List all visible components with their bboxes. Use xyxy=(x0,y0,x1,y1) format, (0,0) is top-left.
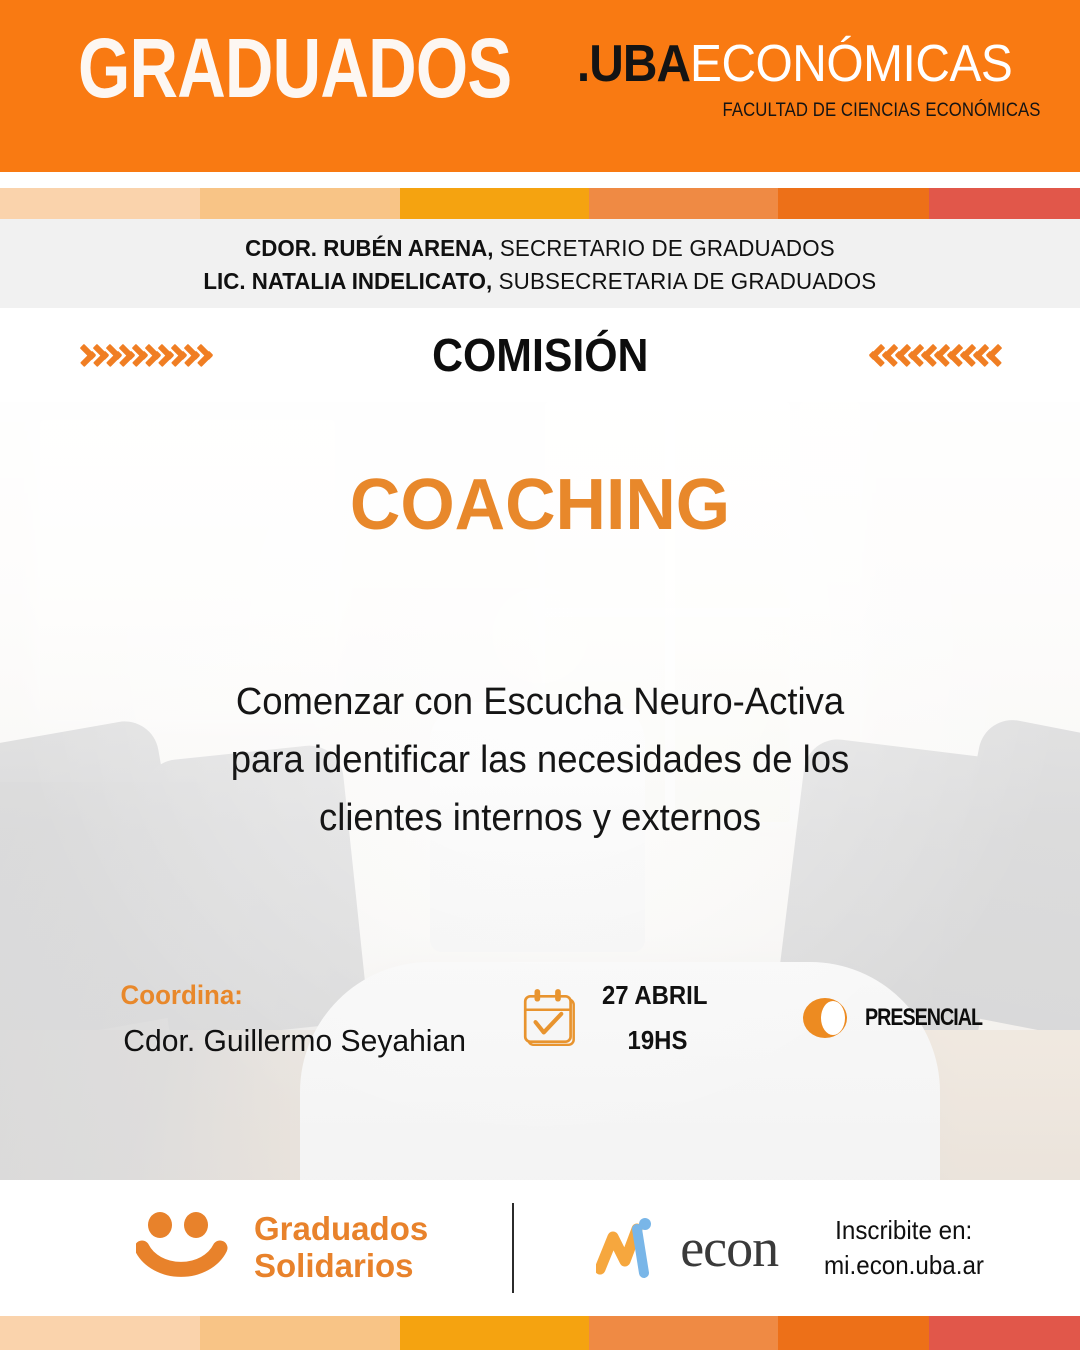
speaker-2-name: LIC. NATALIA INDELICATO, xyxy=(204,268,493,294)
description-line: clientes internos y externos xyxy=(22,790,1059,848)
econ-wordmark: econ xyxy=(680,1221,778,1275)
brand-graduados-title: GRADUADOS xyxy=(78,26,511,110)
footer-divider xyxy=(512,1203,514,1293)
stripe-segment-5 xyxy=(778,188,929,219)
page-footer: Graduados Solidarios econ Inscribite en:… xyxy=(0,1180,1080,1316)
toggle-on-icon xyxy=(803,998,847,1038)
registration-info[interactable]: Inscribite en: mi.econ.uba.ar xyxy=(818,1213,990,1283)
event-title: COACHING xyxy=(16,464,1064,546)
speaker-line-2: LIC. NATALIA INDELICATO, SUBSECRETARIA D… xyxy=(204,265,877,298)
description-line: Comenzar con Escucha Neuro-Activa xyxy=(22,674,1059,732)
speakers-section: CDOR. RUBÉN ARENA, SECRETARIO DE GRADUAD… xyxy=(0,219,1080,308)
main-content-section: COACHING Comenzar con Escucha Neuro-Acti… xyxy=(0,402,1080,1180)
stripe-band-bottom xyxy=(0,1316,1080,1350)
speaker-line-1: CDOR. RUBÉN ARENA, SECRETARIO DE GRADUAD… xyxy=(245,232,835,265)
smiley-face-icon xyxy=(136,1212,232,1284)
stripe-segment-5 xyxy=(778,1316,929,1350)
uba-logo-line: .UBAECONÓMICAS xyxy=(567,38,1040,90)
chevrons-right-pointing xyxy=(82,335,212,375)
stripe-segment-3 xyxy=(400,1316,589,1350)
stripe-segment-6 xyxy=(929,188,1080,219)
speaker-1-role: SECRETARIO DE GRADUADOS xyxy=(493,235,834,261)
mi-econ-logo[interactable]: econ xyxy=(596,1217,778,1279)
uba-economicas-logo: .UBAECONÓMICAS FACULTAD DE CIENCIAS ECON… xyxy=(567,38,1040,122)
uba-logo-economicas: ECONÓMICAS xyxy=(690,38,1012,90)
mi-econ-mark-icon xyxy=(596,1217,670,1279)
uba-logo-dot-uba: .UBA xyxy=(576,38,689,90)
stripe-segment-2 xyxy=(200,1316,400,1350)
stripe-band-top xyxy=(0,188,1080,219)
chevron-right-icon xyxy=(199,335,214,375)
uba-logo-subtitle: FACULTAD DE CIENCIAS ECONÓMICAS xyxy=(623,100,1040,122)
speaker-2-role: SUBSECRETARIA DE GRADUADOS xyxy=(492,268,876,294)
event-date: 27 ABRIL xyxy=(602,980,707,1011)
speaker-1-name: CDOR. RUBÉN ARENA, xyxy=(245,235,493,261)
modality-label: PRESENCIAL xyxy=(865,1004,982,1032)
stripe-segment-4 xyxy=(589,188,778,219)
date-time-block: 27 ABRIL 19HS xyxy=(518,980,717,1056)
date-time-text: 27 ABRIL 19HS xyxy=(602,980,717,1056)
comision-title: COMISIÓN xyxy=(432,328,648,382)
registration-url[interactable]: mi.econ.uba.ar xyxy=(824,1248,984,1283)
poster-root: GRADUADOS .UBAECONÓMICAS FACULTAD DE CIE… xyxy=(0,0,1080,1350)
modality-block: PRESENCIAL xyxy=(803,998,1008,1038)
calendar-check-icon xyxy=(518,985,584,1051)
page-header: GRADUADOS .UBAECONÓMICAS FACULTAD DE CIE… xyxy=(0,0,1080,172)
coordinator-name: Cdor. Guillermo Seyahian xyxy=(123,1023,466,1059)
stripe-segment-3 xyxy=(400,188,589,219)
stripe-segment-1 xyxy=(0,188,200,219)
gs-line-2: Solidarios xyxy=(254,1248,428,1285)
comision-section: COMISIÓN xyxy=(0,308,1080,402)
graduados-solidarios-text: Graduados Solidarios xyxy=(254,1211,428,1285)
event-description: Comenzar con Escucha Neuro-Activa para i… xyxy=(22,674,1059,847)
chevrons-left-pointing xyxy=(868,335,998,375)
coordinator-block: Coordina: Cdor. Guillermo Seyahian xyxy=(118,977,518,1059)
gs-line-1: Graduados xyxy=(254,1211,428,1248)
graduados-solidarios-logo: Graduados Solidarios xyxy=(136,1211,428,1285)
event-info-row: Coordina: Cdor. Guillermo Seyahian xyxy=(0,977,1080,1059)
coordinator-label: Coordina: xyxy=(121,977,243,1015)
stripe-segment-2 xyxy=(200,188,400,219)
stripe-segment-1 xyxy=(0,1316,200,1350)
stripe-segment-4 xyxy=(589,1316,778,1350)
description-line: para identificar las necesidades de los xyxy=(22,732,1059,790)
registration-label: Inscribite en: xyxy=(836,1213,973,1248)
event-time: 19HS xyxy=(602,1025,707,1056)
chevron-left-icon xyxy=(985,335,1000,375)
stripe-segment-6 xyxy=(929,1316,1080,1350)
